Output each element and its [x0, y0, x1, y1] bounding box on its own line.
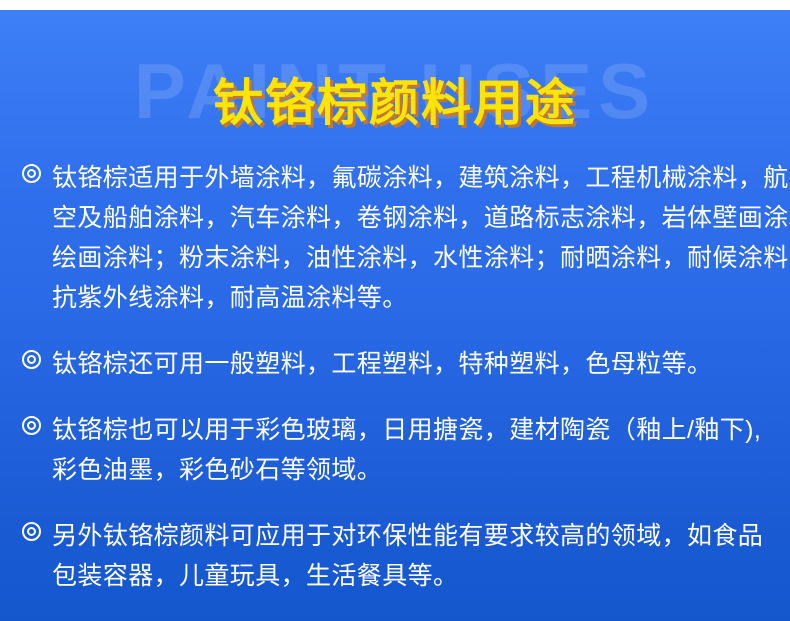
text-line: 彩色油墨，彩色砂石等领域。: [52, 450, 790, 490]
text-line: 空及船舶涂料，汽车涂料，卷钢涂料，道路标志涂料，岩体壁画涂料: [52, 198, 790, 238]
list-item: 钛铬棕还可用一般塑料，工程塑料，特种塑料，色母粒等。: [0, 344, 790, 384]
list-item-text: 另外钛铬棕颜料可应用于对环保性能有要求较高的领域，如食品 包装容器，儿童玩具，生…: [52, 516, 790, 596]
text-line: 钛铬棕还可用一般塑料，工程塑料，特种塑料，色母粒等。: [52, 344, 790, 384]
top-white-strip: [0, 0, 790, 10]
text-line: 另外钛铬棕颜料可应用于对环保性能有要求较高的领域，如食品: [52, 516, 790, 556]
text-line: 钛铬棕适用于外墙涂料，氟碳涂料，建筑涂料，工程机械涂料，航: [52, 158, 790, 198]
list-item: 另外钛铬棕颜料可应用于对环保性能有要求较高的领域，如食品 包装容器，儿童玩具，生…: [0, 516, 790, 596]
page-title: 钛铬棕颜料用途: [0, 72, 790, 135]
text-line: 绘画涂料；粉末涂料，油性涂料，水性涂料；耐晒涂料，耐候涂料，: [52, 238, 790, 278]
promo-banner: PAINT USES 钛铬棕颜料用途 钛铬棕适用于外墙涂料，氟碳涂料，建筑涂料，…: [0, 0, 790, 621]
list-item-text: 钛铬棕适用于外墙涂料，氟碳涂料，建筑涂料，工程机械涂料，航 空及船舶涂料，汽车涂…: [52, 158, 790, 318]
list-item-text: 钛铬棕也可以用于彩色玻璃，日用搪瓷，建材陶瓷（釉上/釉下), 彩色油墨，彩色砂石…: [52, 410, 790, 490]
list-item-text: 钛铬棕还可用一般塑料，工程塑料，特种塑料，色母粒等。: [52, 344, 790, 384]
text-line: 抗紫外线涂料，耐高温涂料等。: [52, 278, 790, 318]
text-line: 钛铬棕也可以用于彩色玻璃，日用搪瓷，建材陶瓷（釉上/釉下),: [52, 410, 790, 450]
blue-gradient-panel: PAINT USES 钛铬棕颜料用途 钛铬棕适用于外墙涂料，氟碳涂料，建筑涂料，…: [0, 10, 790, 621]
double-circle-icon: [22, 164, 41, 183]
text-line: 包装容器，儿童玩具，生活餐具等。: [52, 556, 790, 596]
double-circle-icon: [22, 350, 41, 369]
list-item: 钛铬棕也可以用于彩色玻璃，日用搪瓷，建材陶瓷（釉上/釉下), 彩色油墨，彩色砂石…: [0, 410, 790, 490]
header-block: PAINT USES 钛铬棕颜料用途: [0, 28, 790, 148]
double-circle-icon: [22, 522, 41, 541]
double-circle-icon: [22, 416, 41, 435]
bullet-list: 钛铬棕适用于外墙涂料，氟碳涂料，建筑涂料，工程机械涂料，航 空及船舶涂料，汽车涂…: [0, 158, 790, 596]
list-item: 钛铬棕适用于外墙涂料，氟碳涂料，建筑涂料，工程机械涂料，航 空及船舶涂料，汽车涂…: [0, 158, 790, 318]
